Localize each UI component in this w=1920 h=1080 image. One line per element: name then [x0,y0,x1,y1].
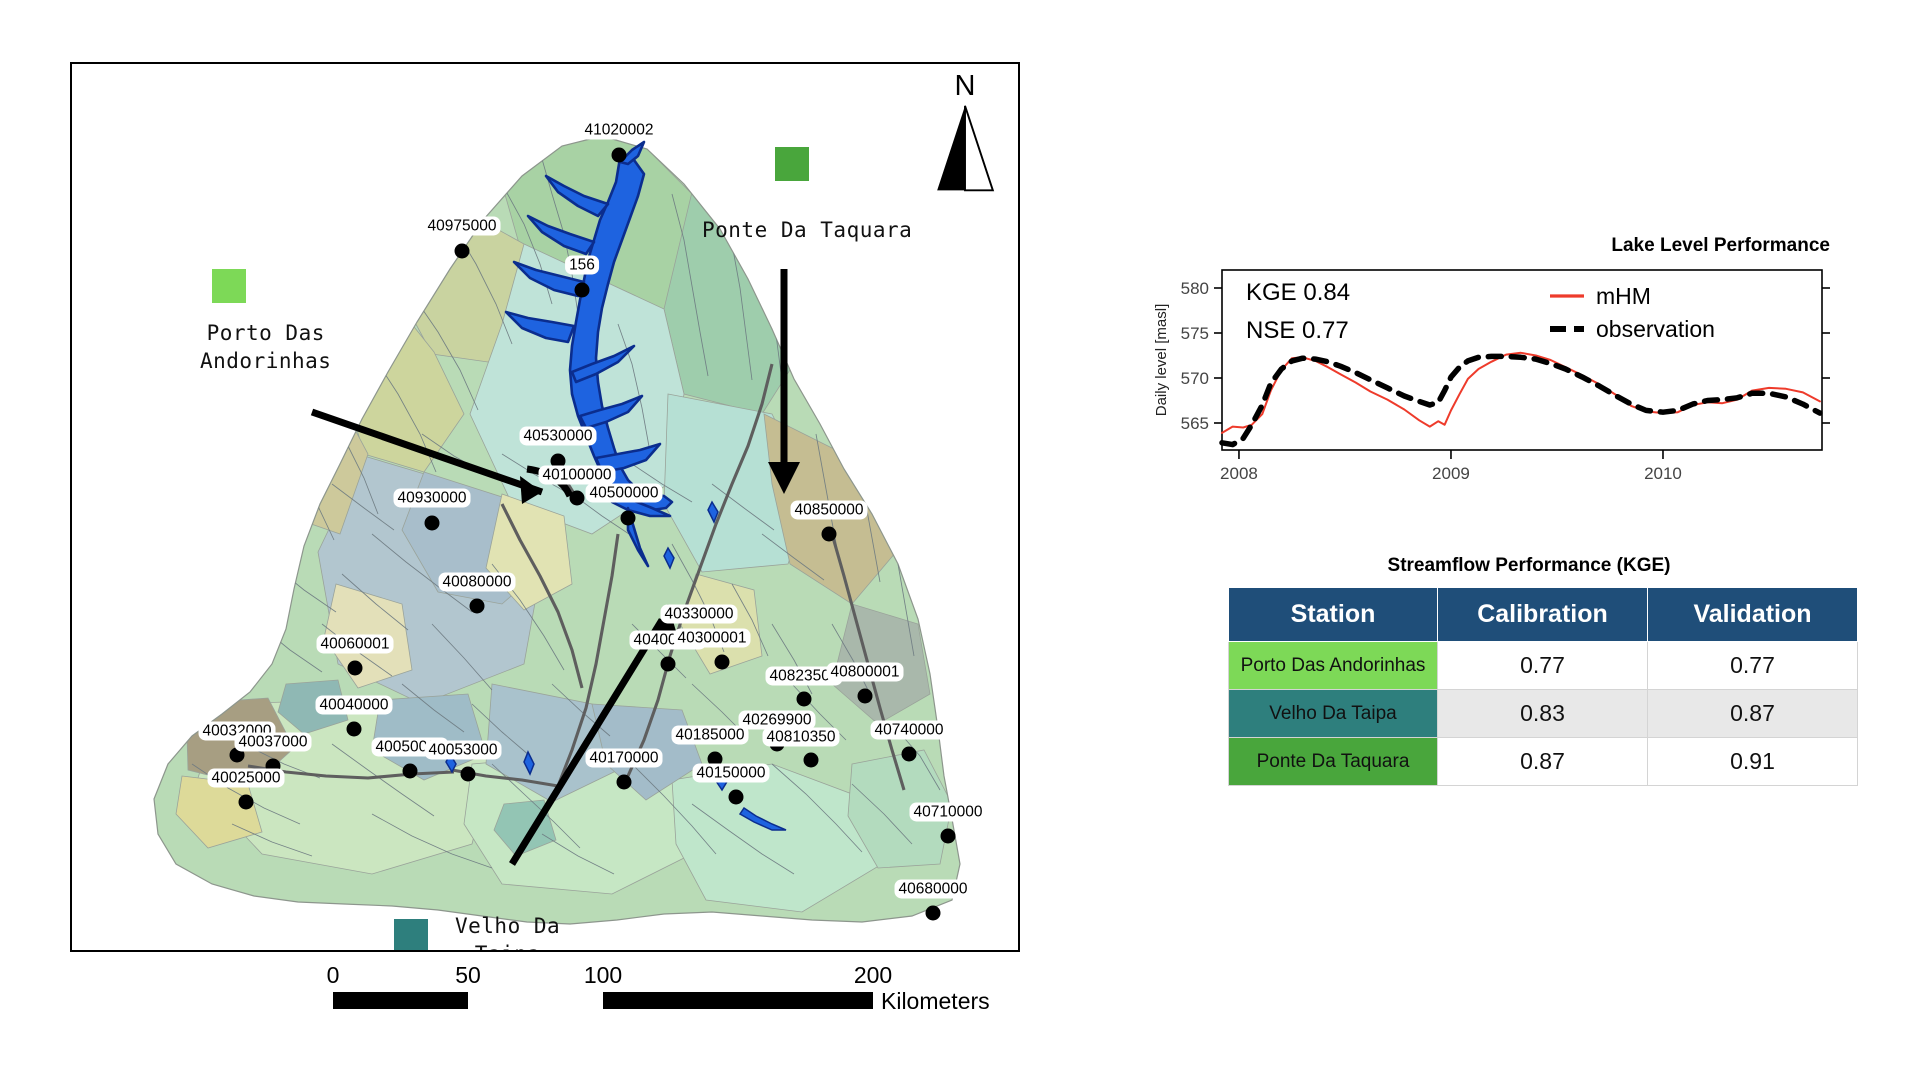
streamflow-performance-table: Station Calibration Validation Porto Das… [1228,587,1858,786]
station-label: 40850000 [791,500,868,519]
legend-label-ponte-da-taquara: Ponte Da Taquara [702,216,912,244]
station-label: 40170000 [586,748,663,767]
scale-units-label: Kilometers [881,988,990,1015]
table-row: Velho Da Taipa0.830.87 [1229,690,1858,738]
lake-level-chart: 565570575580200820092010Daily level [mas… [1150,260,1830,495]
svg-text:570: 570 [1181,369,1209,388]
scale-bar-fill [333,992,873,1009]
station-dot [902,747,917,762]
legend-swatch-porto-das-andorinhas [212,269,246,303]
scale-tick-200: 200 [854,962,892,989]
svg-text:observation: observation [1596,316,1715,342]
svg-text:KGE 0.84: KGE 0.84 [1246,279,1350,306]
station-dot [661,657,676,672]
svg-text:Daily level [masl]: Daily level [masl] [1153,304,1170,417]
legend-label-velho-da-taipa: Velho Da Taipa [455,912,560,952]
north-arrow: N [930,70,1000,200]
svg-text:2010: 2010 [1644,464,1682,483]
station-dot [858,689,873,704]
station-label: 40330000 [661,604,738,623]
station-label: 40025000 [208,768,285,787]
svg-text:575: 575 [1181,324,1209,343]
table-body: Porto Das Andorinhas0.770.77Velho Da Tai… [1229,642,1858,786]
lake-level-chart-block: Lake Level Performance 56557057558020082… [1150,235,1830,495]
streamflow-performance-block: Streamflow Performance (KGE) Station Cal… [1228,555,1830,786]
table-row: Ponte Da Taquara0.870.91 [1229,738,1858,786]
scale-tick-0: 0 [327,962,340,989]
station-dot [926,906,941,921]
legend-swatch-velho-da-taipa [394,919,428,952]
svg-text:565: 565 [1181,414,1209,433]
station-dot [570,491,585,506]
map-scale-bar: 0 50 100 200 Kilometers [333,962,893,1038]
cell-station: Porto Das Andorinhas [1229,642,1438,690]
svg-text:2008: 2008 [1220,464,1258,483]
north-arrow-label: N [955,70,976,103]
station-dot [425,516,440,531]
cell-validation: 0.87 [1648,690,1858,738]
scale-tick-50: 50 [455,962,481,989]
station-label: 40740000 [871,720,948,739]
station-dot [804,753,819,768]
station-label: 40300001 [674,628,751,647]
table-title: Streamflow Performance (KGE) [1228,555,1830,577]
cell-calibration: 0.77 [1438,642,1648,690]
station-label: 40710000 [910,802,987,821]
column-header-station: Station [1229,588,1438,642]
station-dot [941,829,956,844]
station-label: 40680000 [895,879,972,898]
station-label: 40080000 [439,572,516,591]
station-label: 40150000 [693,763,770,782]
svg-text:2009: 2009 [1432,464,1470,483]
svg-text:mHM: mHM [1596,283,1651,309]
station-dot [575,283,590,298]
cell-validation: 0.77 [1648,642,1858,690]
station-label: 40037000 [235,732,312,751]
station-dot [455,244,470,259]
station-dot [715,655,730,670]
station-label: 40530000 [520,426,597,445]
station-label: 40100000 [539,465,616,484]
station-label: 40053000 [425,740,502,759]
station-label: 40185000 [672,725,749,744]
table-row: Porto Das Andorinhas0.770.77 [1229,642,1858,690]
cell-station: Velho Da Taipa [1229,690,1438,738]
station-dot [822,527,837,542]
station-dot [729,790,744,805]
scale-tick-100: 100 [584,962,622,989]
svg-text:NSE 0.77: NSE 0.77 [1246,317,1349,344]
station-label: 40975000 [424,216,501,235]
svg-text:580: 580 [1181,279,1209,298]
station-dot [612,148,627,163]
station-dot [797,692,812,707]
watershed-map-graphic [72,64,1018,950]
station-label: 40930000 [394,488,471,507]
cell-validation: 0.91 [1648,738,1858,786]
column-header-validation: Validation [1648,588,1858,642]
station-dot [348,661,363,676]
table-header-row: Station Calibration Validation [1229,588,1858,642]
station-dot [461,767,476,782]
station-label: 40040000 [316,695,393,714]
station-dot [621,511,636,526]
cell-station: Ponte Da Taquara [1229,738,1438,786]
station-label: 40060001 [317,634,394,653]
station-label: 156 [565,255,599,274]
column-header-calibration: Calibration [1438,588,1648,642]
station-dot [403,764,418,779]
cell-calibration: 0.87 [1438,738,1648,786]
station-label: 40500000 [586,483,663,502]
chart-title: Lake Level Performance [1611,235,1830,257]
legend-label-porto-das-andorinhas: Porto Das Andorinhas [200,319,331,376]
scale-bar-gap [468,992,603,1009]
legend-swatch-ponte-da-taquara [775,147,809,181]
cell-calibration: 0.83 [1438,690,1648,738]
watershed-map-panel: Porto Das Andorinhas Ponte Da Taquara Ve… [70,62,1020,952]
station-dot [347,722,362,737]
station-dot [239,795,254,810]
station-label: 40810350 [763,727,840,746]
station-dot [617,775,632,790]
north-arrow-icon [930,102,1000,198]
station-label: 41020002 [581,120,658,139]
station-label: 40800001 [827,662,904,681]
station-dot [470,599,485,614]
